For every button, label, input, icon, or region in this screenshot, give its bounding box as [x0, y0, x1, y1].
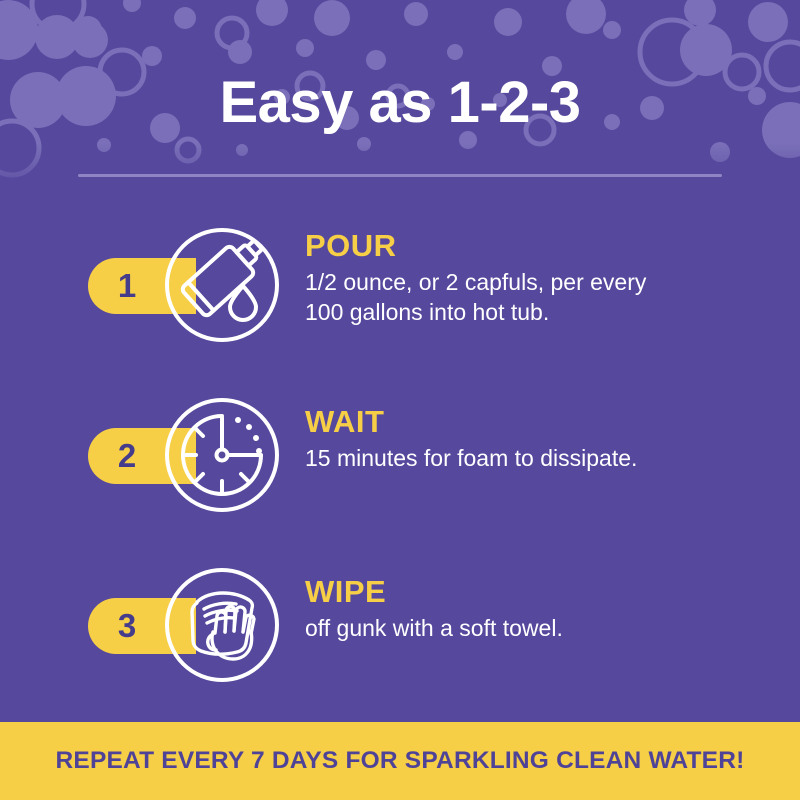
step-item-2: 2: [0, 380, 800, 550]
step-text-3: WIPE off gunk with a soft towel.: [305, 576, 755, 643]
title-divider: [78, 174, 722, 177]
hand-wiping-cloth-icon: [163, 566, 281, 684]
step-number-label-3: 3: [88, 598, 166, 654]
step-heading-3: WIPE: [305, 576, 755, 609]
step-heading-1: POUR: [305, 230, 755, 263]
promo-poster: Easy as 1-2-3 1: [0, 0, 800, 800]
step-item-1: 1: [0, 210, 800, 380]
footer-banner-text: REPEAT EVERY 7 DAYS FOR SPARKLING CLEAN …: [56, 747, 745, 775]
footer-banner: REPEAT EVERY 7 DAYS FOR SPARKLING CLEAN …: [0, 722, 800, 800]
step-body-line1-2: 15 minutes for foam to dissipate.: [305, 443, 755, 473]
step-text-2: WAIT 15 minutes for foam to dissipate.: [305, 406, 755, 473]
steps-list: 1: [0, 210, 800, 720]
bottle-droplet-icon: [163, 226, 281, 344]
step-number-label-1: 1: [88, 258, 166, 314]
page-title: Easy as 1-2-3: [0, 74, 800, 132]
step-text-1: POUR 1/2 ounce, or 2 capfuls, per every …: [305, 230, 755, 327]
step-item-3: 3: [0, 550, 800, 720]
header: Easy as 1-2-3: [0, 0, 800, 200]
step-body-line1-1: 1/2 ounce, or 2 capfuls, per every: [305, 267, 755, 297]
clock-icon: [163, 396, 281, 514]
step-heading-2: WAIT: [305, 406, 755, 439]
step-body-line1-3: off gunk with a soft towel.: [305, 613, 755, 643]
step-number-label-2: 2: [88, 428, 166, 484]
step-body-line2-1: 100 gallons into hot tub.: [305, 297, 755, 327]
